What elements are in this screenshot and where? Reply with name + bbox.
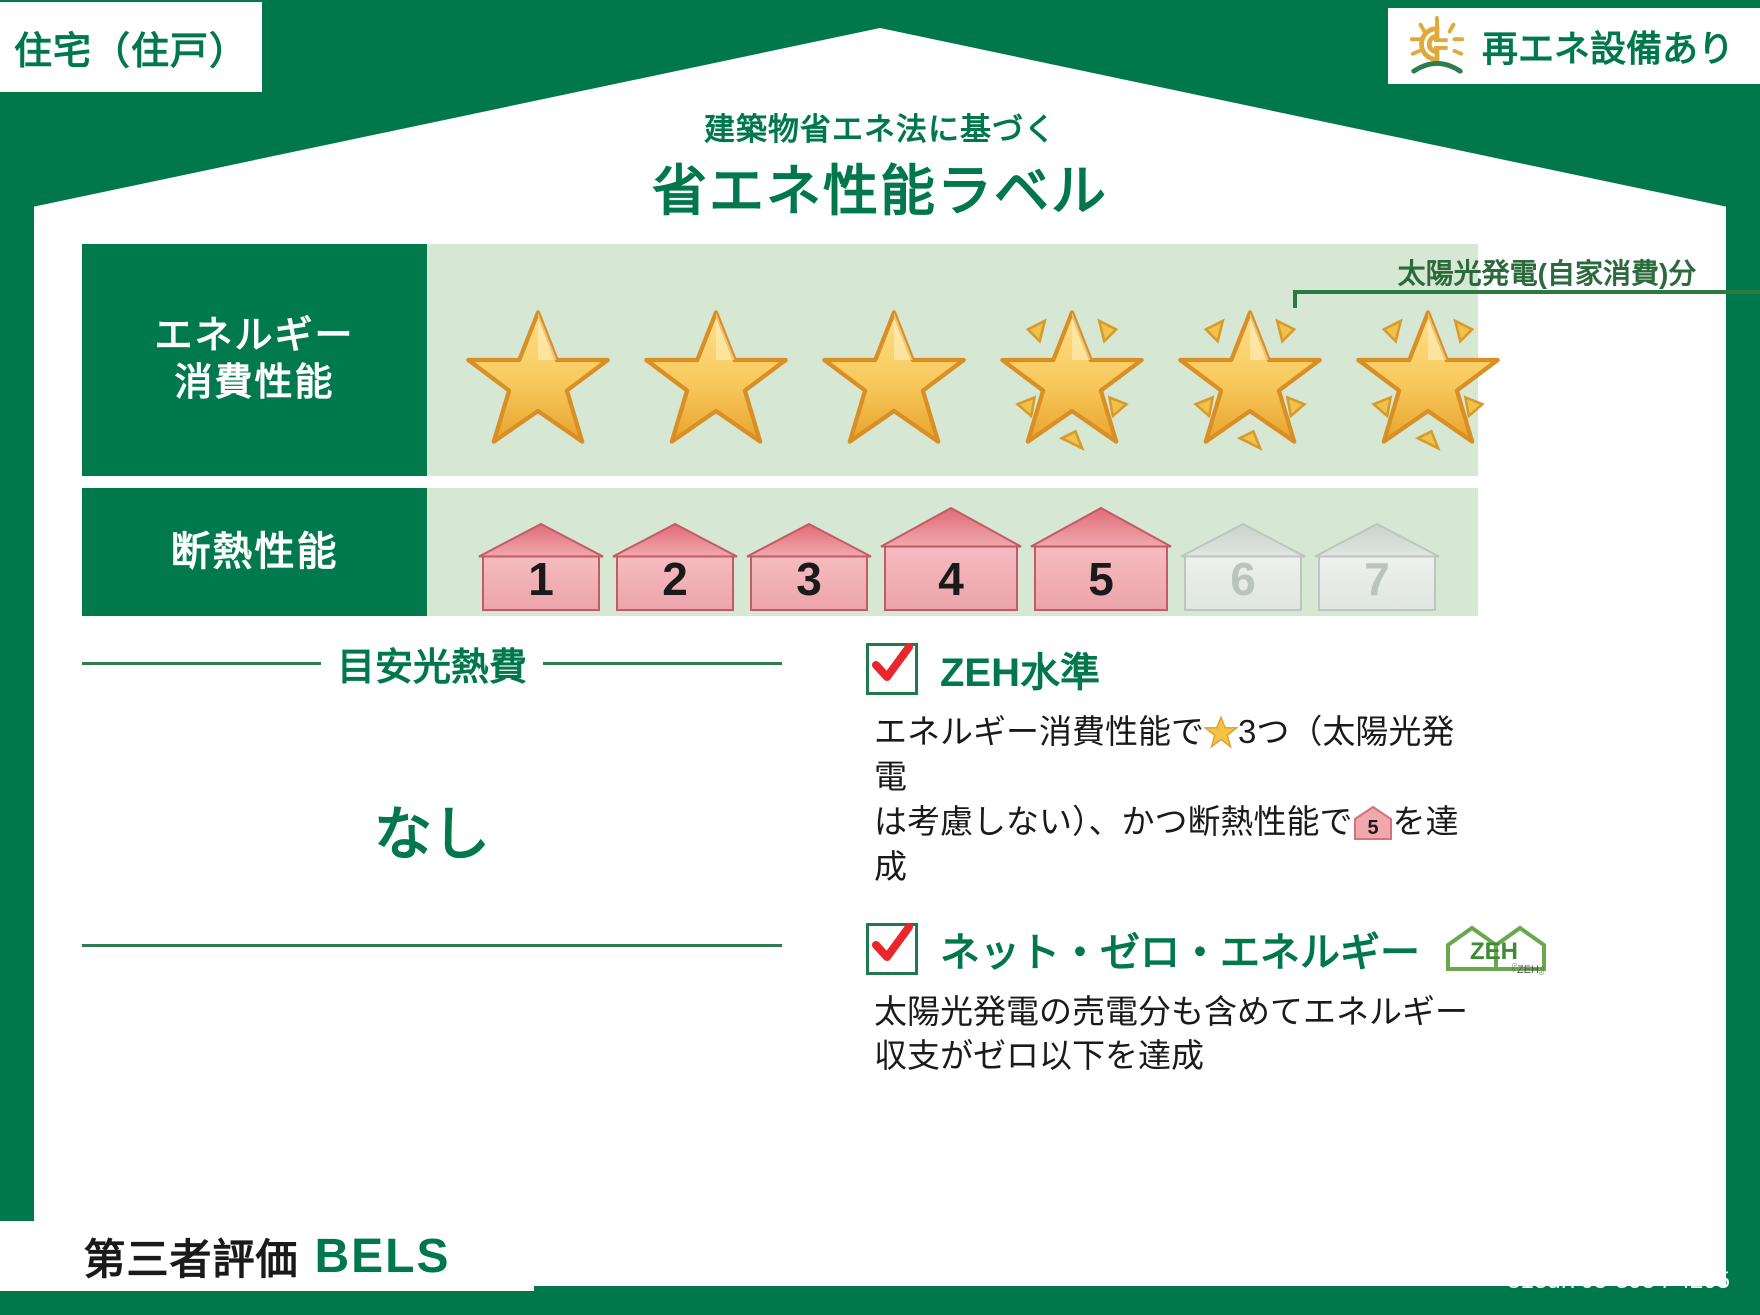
star-2 bbox=[631, 292, 801, 462]
gold-star-icon bbox=[1204, 715, 1238, 749]
insulation-performance-label: 断熱性能 bbox=[82, 488, 427, 616]
star-rating bbox=[427, 284, 1478, 470]
insulation-level-number: 6 bbox=[1177, 552, 1309, 606]
insulation-performance-row: 断熱性能 1234567 bbox=[82, 488, 1478, 616]
net-zero-checkbox[interactable] bbox=[866, 923, 918, 975]
insulation-level-number: 2 bbox=[609, 552, 741, 606]
house-level-icon: 5 bbox=[1353, 805, 1393, 841]
zeh-section: ZEH水準 エネルギー消費性能で3つ（太陽光発電 は考慮しない）、かつ断熱性能で… bbox=[866, 640, 1486, 1079]
svg-text:5: 5 bbox=[1367, 817, 1378, 839]
utility-cost-bottom-rule bbox=[82, 944, 782, 947]
page-title: 省エネ性能ラベル bbox=[0, 146, 1760, 226]
bels-badge: 第三者評価 BELS bbox=[0, 1221, 534, 1291]
svg-text:ZEH: ZEH bbox=[1470, 938, 1518, 965]
zeh-standard-title: ZEH水準 bbox=[940, 640, 1100, 698]
star-3 bbox=[809, 292, 979, 462]
solar-plug-sun-icon bbox=[1406, 15, 1468, 77]
star-5 bbox=[1165, 292, 1335, 462]
insulation-level-1: 1 bbox=[475, 520, 607, 616]
law-subtitle: 建築物省エネ法に基づく bbox=[0, 104, 1760, 149]
energy-performance-value: 太陽光発電(自家消費)分 bbox=[427, 244, 1478, 476]
red-check-icon bbox=[866, 638, 918, 690]
utility-cost-value: なし bbox=[82, 787, 782, 871]
net-zero-energy-row: ネット・ゼロ・エネルギー ZEH 『ZEH』 bbox=[866, 920, 1486, 978]
building-type-badge: 住宅（住戸） bbox=[0, 2, 262, 92]
insulation-level-number: 5 bbox=[1027, 552, 1175, 606]
insulation-level-6: 6 bbox=[1177, 520, 1309, 616]
insulation-performance-value: 1234567 bbox=[427, 488, 1478, 616]
zeh-house-logo-icon: ZEH 『ZEH』 bbox=[1442, 923, 1552, 975]
property-address: 大竹市南栄1丁目2棟 2号棟-83775027-0002 bbox=[552, 1233, 1212, 1281]
renewable-badge-label: 再エネ設備あり bbox=[1482, 20, 1734, 72]
rule-right bbox=[543, 662, 782, 665]
bels-logo-text: BELS bbox=[315, 1229, 451, 1284]
renewable-equipment-badge: 再エネ設備あり bbox=[1388, 8, 1760, 84]
bels-label-root: 住宅（住戸） 再エネ設備あり 建築物省エネ法 bbox=[0, 0, 1760, 1315]
insulation-level-number: 7 bbox=[1311, 552, 1443, 606]
svg-text:『ZEH』: 『ZEH』 bbox=[1506, 963, 1550, 975]
energy-performance-row: エネルギー 消費性能 太陽光発電(自家消費)分 bbox=[82, 244, 1478, 476]
insulation-level-number: 3 bbox=[743, 552, 875, 606]
evaluation-uid: 81edf705-3954-4205 bbox=[1507, 1267, 1730, 1295]
utility-cost-block: 目安光熱費 なし bbox=[82, 636, 782, 871]
red-check-icon bbox=[866, 918, 918, 970]
insulation-level-3: 3 bbox=[743, 520, 875, 616]
insulation-level-scale: 1234567 bbox=[427, 488, 1478, 616]
zeh-standard-description: エネルギー消費性能で3つ（太陽光発電 は考慮しない）、かつ断熱性能で5を達成 bbox=[874, 710, 1486, 890]
insulation-level-5: 5 bbox=[1027, 504, 1175, 616]
energy-performance-label: エネルギー 消費性能 bbox=[82, 244, 427, 476]
footer: 第三者評価 BELS 大竹市南栄1丁目2棟 2号棟-83775027-0002 … bbox=[0, 1189, 1760, 1315]
net-zero-description: 太陽光発電の売電分も含めてエネルギー 収支がゼロ以下を達成 bbox=[874, 990, 1486, 1080]
zeh-standard-checkbox[interactable] bbox=[866, 643, 918, 695]
evaluation-date: 評価日 2025年12月16日 bbox=[1333, 1205, 1730, 1259]
insulation-level-4: 4 bbox=[877, 504, 1025, 616]
utility-cost-heading: 目安光熱費 bbox=[82, 636, 782, 691]
insulation-level-number: 4 bbox=[877, 552, 1025, 606]
insulation-level-2: 2 bbox=[609, 520, 741, 616]
rule-left bbox=[82, 662, 321, 665]
insulation-level-number: 1 bbox=[475, 552, 607, 606]
star-4 bbox=[987, 292, 1157, 462]
star-1 bbox=[453, 292, 623, 462]
utility-cost-label: 目安光熱費 bbox=[337, 636, 527, 691]
zeh-standard-row: ZEH水準 bbox=[866, 640, 1486, 698]
building-type-label: 住宅（住戸） bbox=[14, 20, 248, 75]
star-6 bbox=[1343, 292, 1513, 462]
insulation-level-7: 7 bbox=[1311, 520, 1443, 616]
third-party-label: 第三者評価 bbox=[83, 1226, 298, 1287]
net-zero-title: ネット・ゼロ・エネルギー bbox=[940, 920, 1420, 978]
